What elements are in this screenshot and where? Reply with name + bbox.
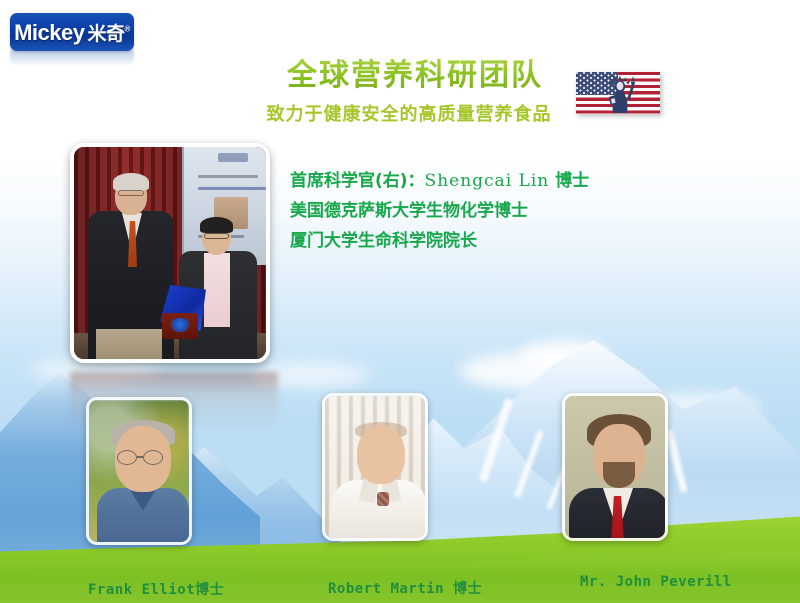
caption-frank-elliot: Frank Elliot博士 [88, 579, 224, 599]
caption-john-peverill: Mr. John Peverill [580, 574, 732, 590]
info-line-1-name: Shengcai Lin [425, 171, 550, 191]
slide-canvas: Mickey米奇® 全球营养科研团队 致力于健康安全的高质量营养食品 [0, 0, 800, 603]
registered-mark-icon: ® [125, 24, 130, 33]
portrait-frank-elliot[interactable] [86, 397, 192, 545]
portrait-robert-martin[interactable] [322, 393, 428, 541]
info-line-3: 厦门大学生命科学院院长 [290, 226, 740, 256]
photo-person-right-shirt [204, 253, 230, 327]
info-line-2: 美国德克萨斯大学生物化学博士 [290, 196, 740, 226]
feature-photo[interactable] [70, 143, 270, 363]
logo-text-chinese: 米奇 [87, 24, 124, 45]
info-line-1: 首席科学官(右)：Shengcai Lin 博士 [290, 166, 740, 196]
portrait-john-peverill[interactable] [562, 393, 668, 541]
photo-person-left-hair [113, 173, 149, 191]
us-flag-icon [576, 72, 660, 114]
caption-robert-martin: Robert Martin 博士 [328, 578, 482, 598]
info-line-1-suffix: 博士 [549, 171, 589, 191]
photo-person-left-glasses [118, 190, 144, 196]
photo-award-medallion [170, 318, 190, 332]
photo-person-left-trousers [96, 329, 162, 363]
chief-scientist-info: 首席科学官(右)：Shengcai Lin 博士 美国德克萨斯大学生物化学博士 … [290, 166, 740, 256]
logo-text-latin: Mickey [14, 20, 84, 45]
photo-person-right-hair [200, 217, 233, 233]
info-line-1-prefix: 首席科学官(右)： [290, 171, 425, 191]
brand-logo[interactable]: Mickey米奇® [10, 13, 134, 51]
page-subtitle: 致力于健康安全的高质量营养食品 [0, 100, 800, 126]
statue-of-liberty-icon [603, 73, 637, 113]
page-title: 全球营养科研团队 [0, 50, 800, 94]
photo-person-right-glasses [204, 233, 229, 239]
